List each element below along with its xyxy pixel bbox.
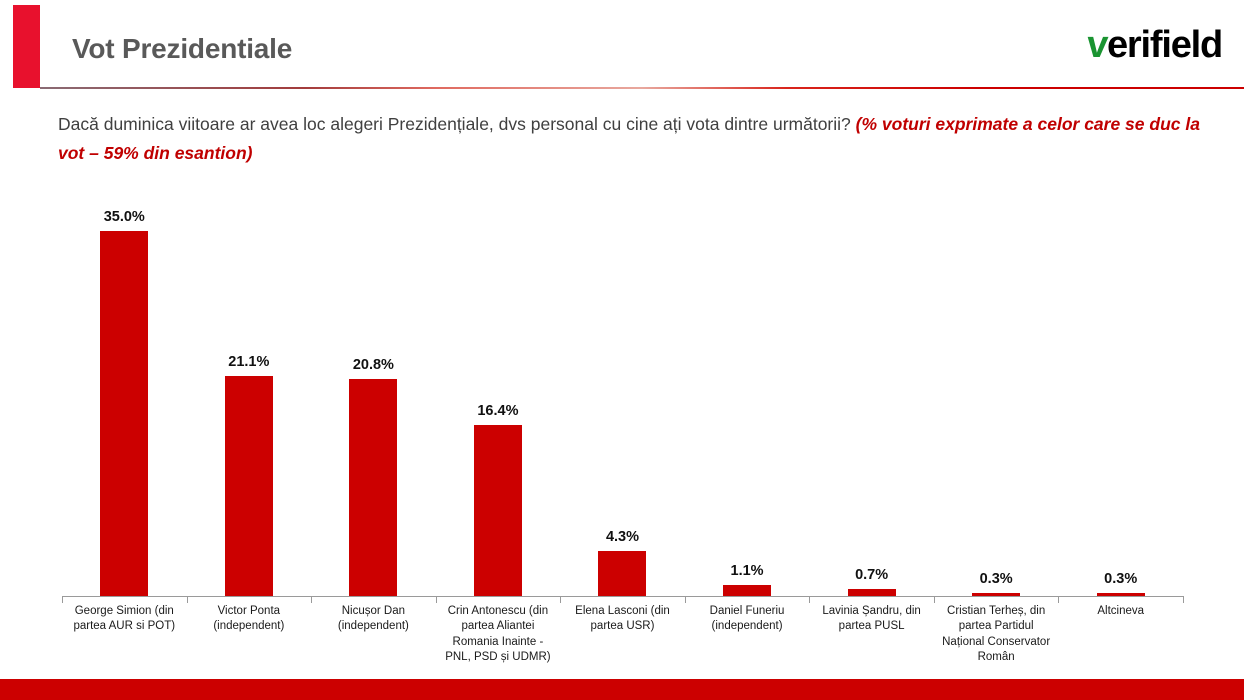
x-axis-category-label: Daniel Funeriu (independent) <box>689 604 806 635</box>
bar <box>598 551 646 596</box>
bar <box>349 379 397 596</box>
bar-column: 20.8% <box>311 200 436 596</box>
verifield-logo: verifield <box>1087 26 1222 64</box>
question-main-text: Dacă duminica viitoare ar avea loc alege… <box>58 114 851 134</box>
bar-value-label: 21.1% <box>187 354 312 370</box>
x-axis-category-label: Lavinia Șandru, din partea PUSL <box>813 604 930 635</box>
x-axis-tick <box>1058 596 1059 603</box>
header-accent-bar <box>13 5 40 88</box>
x-axis-tick <box>187 596 188 603</box>
x-axis-category-label: Crin Antonescu (din partea Aliantei Roma… <box>440 604 557 665</box>
bar-value-label: 0.3% <box>1058 571 1183 587</box>
x-axis-category-label: Victor Ponta (independent) <box>191 604 308 635</box>
bar <box>225 376 273 596</box>
bar <box>848 589 896 596</box>
x-axis-tick <box>311 596 312 603</box>
survey-question: Dacă duminica viitoare ar avea loc alege… <box>58 110 1228 169</box>
x-axis-tick <box>685 596 686 603</box>
page-header: Vot Prezidentiale verifield <box>0 0 1244 88</box>
header-divider <box>40 87 1244 89</box>
x-axis-tick <box>62 596 63 603</box>
checkmark-icon: v <box>1086 26 1109 64</box>
bar <box>474 425 522 596</box>
page-title: Vot Prezidentiale <box>72 33 292 65</box>
x-axis-tick <box>436 596 437 603</box>
x-axis-category-label: Elena Lasconi (din partea USR) <box>564 604 681 635</box>
bar-column: 16.4% <box>436 200 561 596</box>
x-axis-category-label: Altcineva <box>1062 604 1179 619</box>
bar-value-label: 0.3% <box>934 571 1059 587</box>
bar <box>1097 593 1145 596</box>
x-axis-tick <box>560 596 561 603</box>
bar-value-label: 4.3% <box>560 529 685 545</box>
x-axis-category-label: George Simion (din partea AUR si POT) <box>66 604 183 635</box>
bar <box>972 593 1020 596</box>
bar-column: 35.0% <box>62 200 187 596</box>
bar-value-label: 1.1% <box>685 563 810 579</box>
bar-column: 21.1% <box>187 200 312 596</box>
x-axis-line <box>62 596 1183 597</box>
bar-column: 4.3% <box>560 200 685 596</box>
bar-column: 0.3% <box>1058 200 1183 596</box>
x-axis-tick <box>934 596 935 603</box>
bar-value-label: 35.0% <box>62 209 187 225</box>
bar-chart: 35.0%21.1%20.8%16.4%4.3%1.1%0.7%0.3%0.3%… <box>0 200 1244 670</box>
bar-column: 1.1% <box>685 200 810 596</box>
logo-wordmark: erifield <box>1107 24 1222 66</box>
x-axis-category-label: Nicușor Dan (independent) <box>315 604 432 635</box>
bar-value-label: 20.8% <box>311 357 436 373</box>
x-axis-tick <box>1183 596 1184 603</box>
x-axis-tick <box>809 596 810 603</box>
bar <box>100 231 148 596</box>
bar-column: 0.7% <box>809 200 934 596</box>
bar-column: 0.3% <box>934 200 1059 596</box>
footer-accent-bar <box>0 679 1244 700</box>
bar-value-label: 16.4% <box>436 403 561 419</box>
bar <box>723 585 771 596</box>
bar-value-label: 0.7% <box>809 567 934 583</box>
x-axis-category-label: Cristian Terheș, din partea Partidul Naț… <box>938 604 1055 665</box>
